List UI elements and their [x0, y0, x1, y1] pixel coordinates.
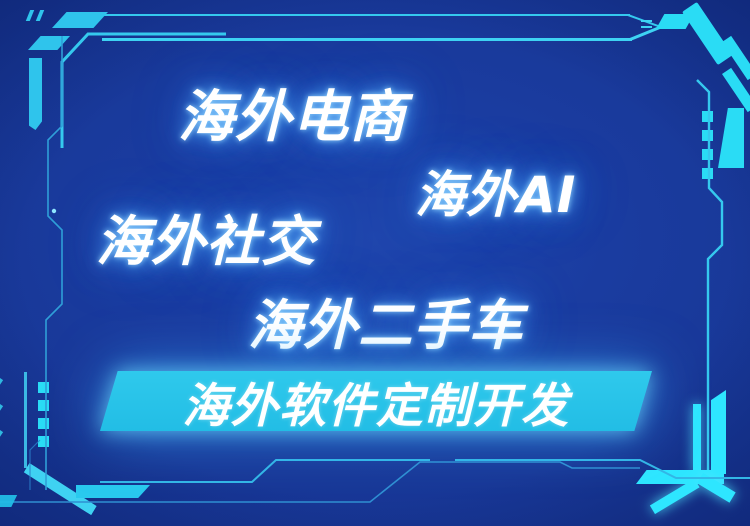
headline-overseas-ecommerce: 海外电商 — [178, 72, 406, 153]
software-development-banner[interactable]: 海外软件定制开发 — [100, 371, 652, 431]
headline-overseas-used-cars: 海外二手车 — [248, 281, 523, 360]
headline-group: 海外电商 海外AI 海外社交 海外二手车 — [0, 0, 750, 526]
headline-overseas-social: 海外社交 — [96, 197, 316, 276]
banner-label: 海外软件定制开发 — [100, 371, 652, 431]
headline-overseas-ai: 海外AI — [415, 155, 576, 227]
poster-canvas: 海外电商 海外AI 海外社交 海外二手车 海外软件定制开发 — [0, 0, 750, 526]
